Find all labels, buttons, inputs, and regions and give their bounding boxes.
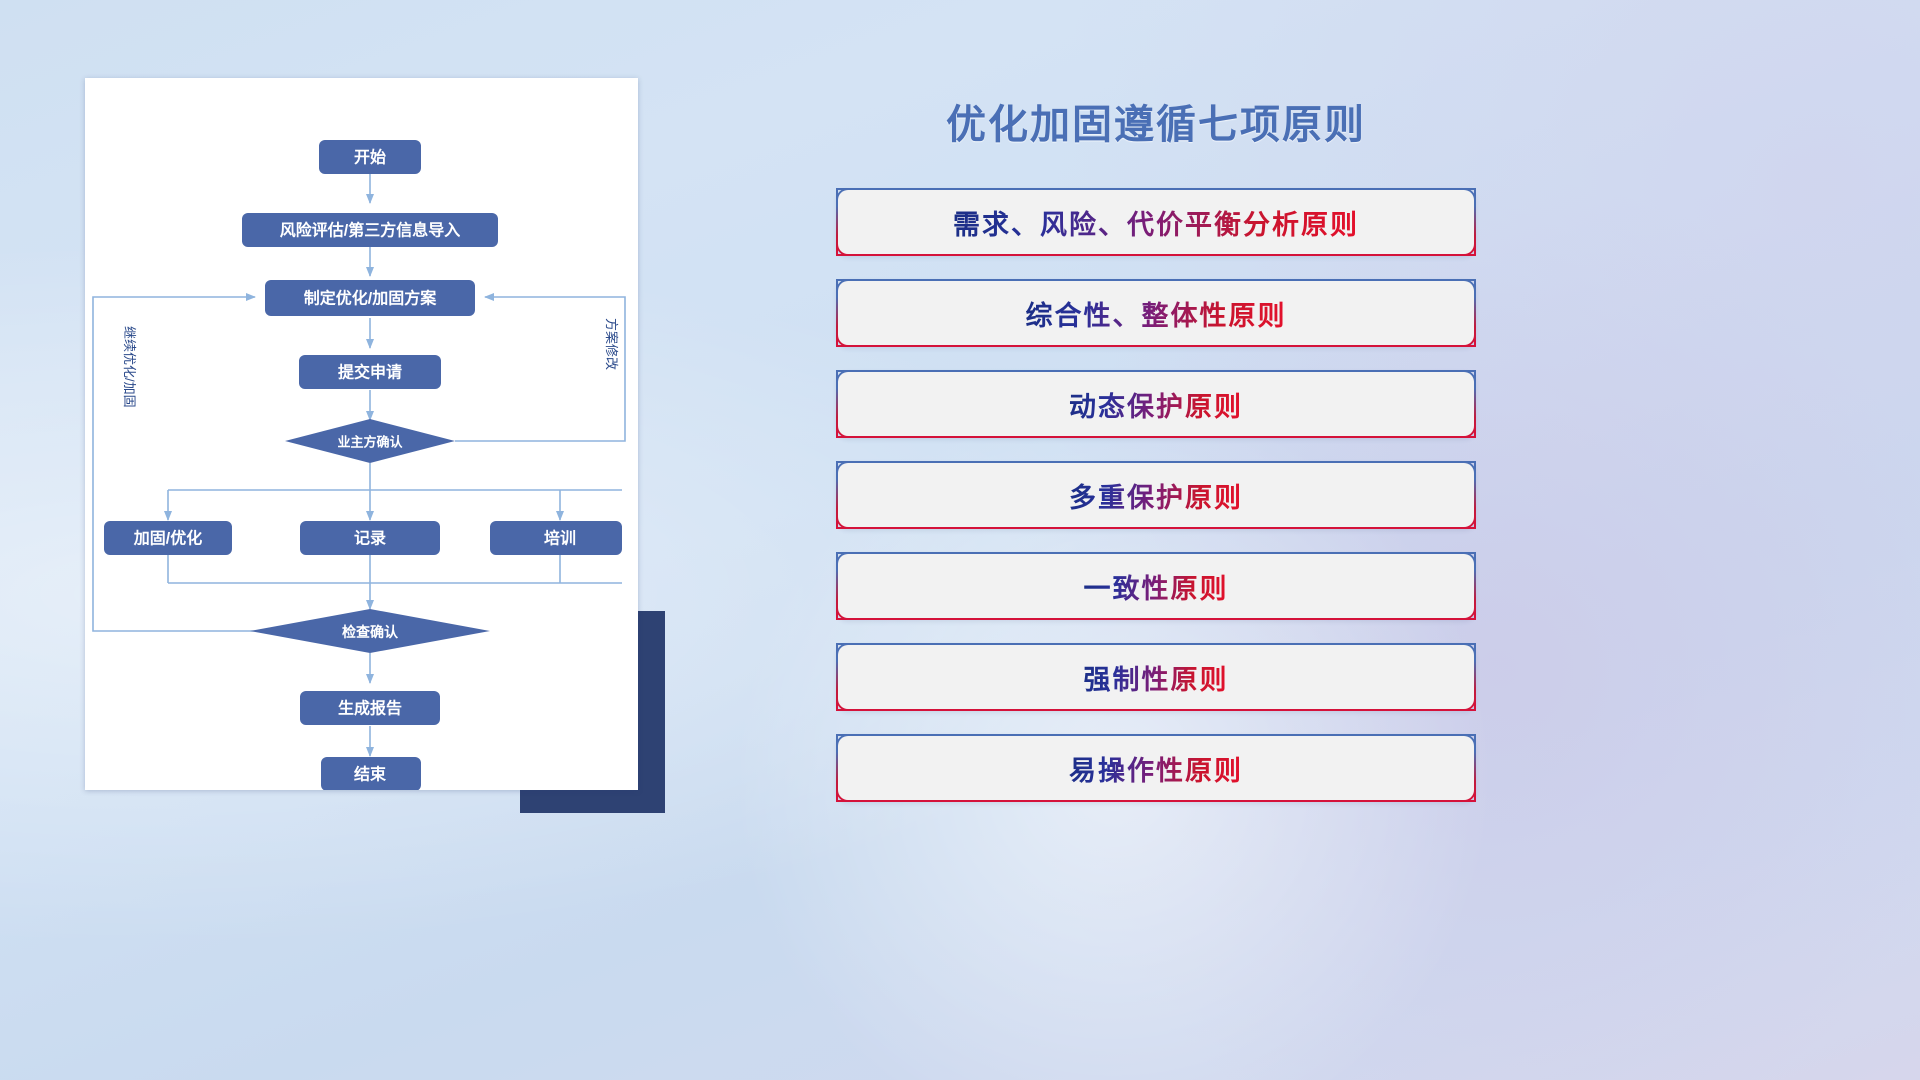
edge-label-left-loop: 继续优化/加固 (122, 326, 137, 408)
flowchart-panel: 开始 风险评估/第三方信息导入 制定优化/加固方案 提交申请 业主方确认 (85, 78, 660, 798)
node-reinforce-label: 加固/优化 (133, 529, 202, 548)
principle-label: 一致性原则 (1084, 567, 1229, 606)
node-end: 结束 (321, 757, 421, 790)
principle-label: 易操作性原则 (1069, 749, 1243, 788)
principle-card-3[interactable]: 动态保护原则 (836, 370, 1476, 438)
edge-label-right-loop: 方案修改 (604, 318, 619, 370)
node-owner: 业主方确认 (285, 419, 455, 463)
node-record: 记录 (300, 521, 440, 555)
node-owner-label: 业主方确认 (337, 435, 403, 450)
principle-card-7[interactable]: 易操作性原则 (836, 734, 1476, 802)
principle-label: 需求、风险、代价平衡分析原则 (953, 203, 1359, 242)
node-train: 培训 (490, 521, 622, 555)
node-risk: 风险评估/第三方信息导入 (242, 213, 498, 247)
principle-label: 强制性原则 (1084, 658, 1229, 697)
node-record-label: 记录 (354, 530, 386, 548)
node-plan-label: 制定优化/加固方案 (304, 289, 437, 308)
principles-panel: 优化加固遵循七项原则 需求、风险、代价平衡分析原则 综合性、整体性原则 动态保护… (836, 70, 1886, 1020)
node-check-label: 检查确认 (342, 624, 399, 640)
node-risk-label: 风险评估/第三方信息导入 (280, 221, 460, 240)
node-end-label: 结束 (353, 765, 387, 784)
principle-card-6[interactable]: 强制性原则 (836, 643, 1476, 711)
principle-card-4[interactable]: 多重保护原则 (836, 461, 1476, 529)
flowchart-connectors (93, 173, 625, 756)
node-start: 开始 (319, 140, 421, 174)
principle-label: 动态保护原则 (1069, 385, 1243, 424)
principle-card-2[interactable]: 综合性、整体性原则 (836, 279, 1476, 347)
node-check: 检查确认 (250, 609, 490, 653)
node-submit-label: 提交申请 (338, 363, 402, 382)
node-start-label: 开始 (354, 148, 386, 167)
principle-label: 综合性、整体性原则 (1026, 294, 1287, 333)
node-reinforce: 加固/优化 (104, 521, 232, 555)
node-submit: 提交申请 (299, 355, 441, 389)
principles-list: 需求、风险、代价平衡分析原则 综合性、整体性原则 动态保护原则 多重保护原则 一… (836, 188, 1886, 825)
node-report-label: 生成报告 (338, 699, 402, 718)
principle-card-5[interactable]: 一致性原则 (836, 552, 1476, 620)
flowchart-card: 开始 风险评估/第三方信息导入 制定优化/加固方案 提交申请 业主方确认 (85, 78, 638, 790)
node-plan: 制定优化/加固方案 (265, 280, 475, 316)
flowchart-svg: 开始 风险评估/第三方信息导入 制定优化/加固方案 提交申请 业主方确认 (85, 78, 638, 790)
principle-label: 多重保护原则 (1069, 476, 1243, 515)
node-report: 生成报告 (300, 691, 440, 725)
page-title: 优化加固遵循七项原则 (946, 92, 1366, 150)
node-train-label: 培训 (544, 529, 576, 548)
flowchart-nodes: 开始 风险评估/第三方信息导入 制定优化/加固方案 提交申请 业主方确认 (104, 140, 622, 790)
principle-card-1[interactable]: 需求、风险、代价平衡分析原则 (836, 188, 1476, 256)
